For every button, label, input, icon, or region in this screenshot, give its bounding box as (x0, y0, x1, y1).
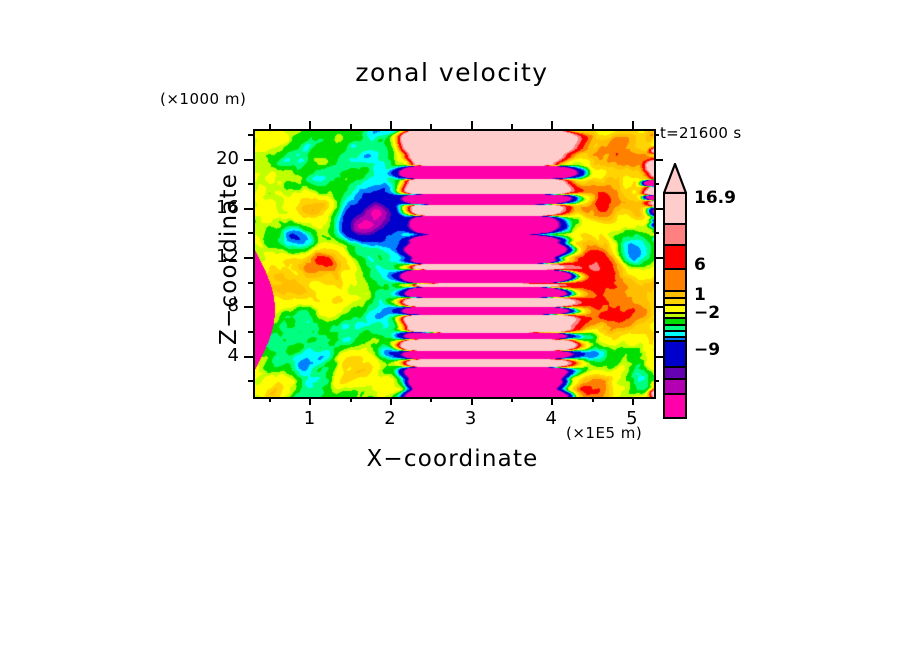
y-tick-left (248, 380, 253, 382)
y-tick-right (654, 356, 663, 358)
x-tick-top (430, 124, 432, 129)
colorbar-tick-label: −2 (694, 303, 720, 323)
x-tick-top (390, 121, 392, 129)
x-tick-label: 2 (370, 408, 410, 429)
colorbar-tick-label: 6 (694, 255, 706, 275)
x-tick-top (592, 124, 594, 129)
y-tick-right (654, 257, 663, 259)
x-tick-top (632, 121, 634, 129)
colorbar-band (663, 378, 687, 393)
x-tick-bottom (632, 397, 634, 405)
x-tick-bottom (269, 397, 271, 402)
y-tick-right (654, 380, 659, 382)
x-axis-title: X−coordinate (253, 446, 652, 472)
y-tick-left (244, 356, 253, 358)
colorbar-band (663, 340, 687, 366)
x-tick-top (551, 121, 553, 129)
colorbar-band (663, 317, 687, 324)
colorbar-band (663, 268, 687, 290)
time-annotation: t=21600 s (660, 124, 741, 142)
x-tick-top (309, 121, 311, 129)
x-tick-bottom (350, 397, 352, 402)
colorbar-tick-label: 1 (694, 285, 706, 305)
x-tick-bottom (551, 397, 553, 405)
y-tick-right (654, 306, 663, 308)
y-tick-left (248, 232, 253, 234)
y-tick-right (654, 331, 659, 333)
x-tick-top (350, 124, 352, 129)
y-axis-unit-label: (×1000 m) (160, 90, 246, 108)
y-tick-left (248, 282, 253, 284)
y-tick-right (654, 232, 659, 234)
figure-canvas: zonal velocity (×1000 m) t=21600 s Z−coo… (0, 0, 904, 654)
x-tick-top (269, 124, 271, 129)
x-tick-bottom (511, 397, 513, 402)
x-tick-label: 1 (289, 408, 329, 429)
colorbar-band (663, 297, 687, 304)
x-tick-bottom (390, 397, 392, 405)
page-title: zonal velocity (0, 58, 904, 87)
x-tick-bottom (430, 397, 432, 402)
y-tick-left (244, 257, 253, 259)
colorbar-band (663, 244, 687, 268)
y-tick-right (654, 208, 663, 210)
y-tick-label: 8 (197, 295, 239, 316)
x-tick-top (471, 121, 473, 129)
y-tick-left (248, 134, 253, 136)
y-tick-left (248, 183, 253, 185)
x-axis-unit-label: (×1E5 m) (566, 424, 642, 442)
x-tick-bottom (592, 397, 594, 402)
colorbar-band (663, 192, 687, 223)
x-tick-bottom (471, 397, 473, 405)
y-tick-label: 16 (197, 197, 239, 218)
x-tick-label: 3 (451, 408, 491, 429)
y-tick-label: 4 (197, 345, 239, 366)
y-tick-right (654, 282, 659, 284)
colorbar-cap-icon (661, 163, 689, 194)
colorbar-band (663, 304, 687, 312)
velocity-field-canvas (255, 131, 654, 397)
colorbar-band (663, 223, 687, 244)
y-tick-right (654, 159, 663, 161)
x-tick-bottom (309, 397, 311, 405)
colorbar-tick-label: −9 (694, 340, 720, 360)
x-tick-top (511, 124, 513, 129)
y-tick-left (244, 208, 253, 210)
y-tick-label: 20 (197, 148, 239, 169)
y-tick-left (244, 159, 253, 161)
contour-plot-area (253, 129, 656, 399)
colorbar-band (663, 393, 687, 419)
y-tick-label: 12 (197, 246, 239, 267)
y-tick-right (654, 134, 659, 136)
colorbar-band (663, 290, 687, 297)
y-tick-left (244, 306, 253, 308)
colorbar-band (663, 366, 687, 378)
y-tick-right (654, 183, 659, 185)
y-tick-left (248, 331, 253, 333)
colorbar (663, 192, 687, 419)
colorbar-tick-label: 16.9 (694, 188, 736, 208)
